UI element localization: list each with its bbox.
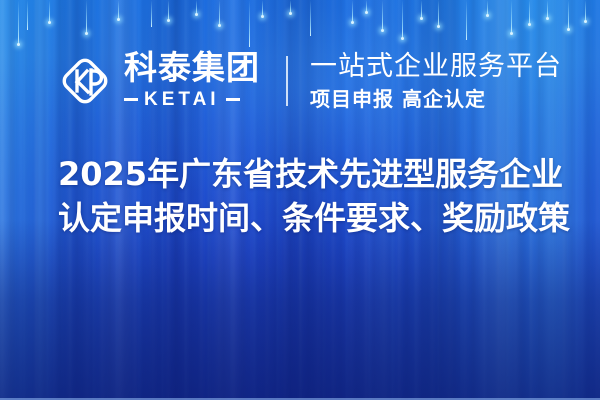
light-ray-dot xyxy=(351,21,354,24)
light-ray-dot xyxy=(401,37,404,40)
light-ray-dot xyxy=(486,14,489,17)
logo-company-name-en: KETAI xyxy=(144,89,220,111)
light-ray-dot xyxy=(528,23,531,26)
light-ray-dot xyxy=(381,29,384,32)
page-title: 2025年广东省技术先进型服务企业认定申报时间、条件要求、奖励政策 xyxy=(58,152,578,240)
promo-banner: 科泰集团 KETAI 一站式企业服务平台 项目申报 高企认定 2025年广东省技… xyxy=(0,0,600,400)
logo-dash-left-icon xyxy=(124,98,138,101)
logo-dash-right-icon xyxy=(226,98,240,101)
light-ray-dot xyxy=(420,17,423,20)
light-ray-dot xyxy=(218,24,221,27)
light-ray-dot xyxy=(48,21,51,24)
light-ray xyxy=(118,0,119,19)
ketai-logo-icon xyxy=(58,54,112,108)
light-ray xyxy=(438,0,439,26)
light-ray-dot xyxy=(261,15,264,18)
logo-company-name-cn: 科泰集团 xyxy=(124,51,260,85)
light-ray xyxy=(310,0,311,36)
light-ray xyxy=(487,0,488,15)
light-ray-dot xyxy=(195,13,198,16)
light-ray-dot xyxy=(437,25,440,28)
light-ray xyxy=(151,0,152,27)
light-ray xyxy=(568,0,569,29)
light-ray xyxy=(262,0,263,16)
light-ray-dot xyxy=(567,28,570,31)
header-divider xyxy=(286,56,288,106)
light-ray xyxy=(547,0,548,18)
light-ray xyxy=(402,0,403,38)
light-ray xyxy=(511,0,512,33)
light-ray-dot xyxy=(365,11,368,14)
light-ray xyxy=(249,0,250,47)
light-ray xyxy=(196,0,197,14)
light-ray-dot xyxy=(546,17,549,20)
light-ray-dot xyxy=(510,32,513,35)
light-ray xyxy=(86,0,87,33)
light-ray xyxy=(27,0,28,30)
brand-header: 科泰集团 KETAI 一站式企业服务平台 项目申报 高企认定 xyxy=(58,42,562,120)
tagline-secondary: 项目申报 高企认定 xyxy=(310,88,562,110)
light-ray xyxy=(168,0,169,20)
light-ray-dot xyxy=(289,12,292,15)
tagline-block: 一站式企业服务平台 项目申报 高企认定 xyxy=(310,52,562,109)
light-ray xyxy=(466,0,467,40)
ketai-logo-wordmark: 科泰集团 KETAI xyxy=(124,51,260,110)
light-ray xyxy=(585,0,586,21)
light-ray xyxy=(49,0,50,22)
light-ray xyxy=(18,0,19,44)
light-ray xyxy=(529,0,530,24)
light-ray-dot xyxy=(117,18,120,21)
logo-company-name-en-row: KETAI xyxy=(124,89,260,111)
light-ray-dot xyxy=(17,43,20,46)
light-ray xyxy=(219,0,220,25)
light-ray-dot xyxy=(85,32,88,35)
light-ray xyxy=(421,0,422,18)
light-ray xyxy=(352,0,353,22)
light-ray-dot xyxy=(584,20,587,23)
tagline-primary: 一站式企业服务平台 xyxy=(310,52,562,82)
light-ray-dot xyxy=(167,19,170,22)
light-ray xyxy=(382,0,383,30)
